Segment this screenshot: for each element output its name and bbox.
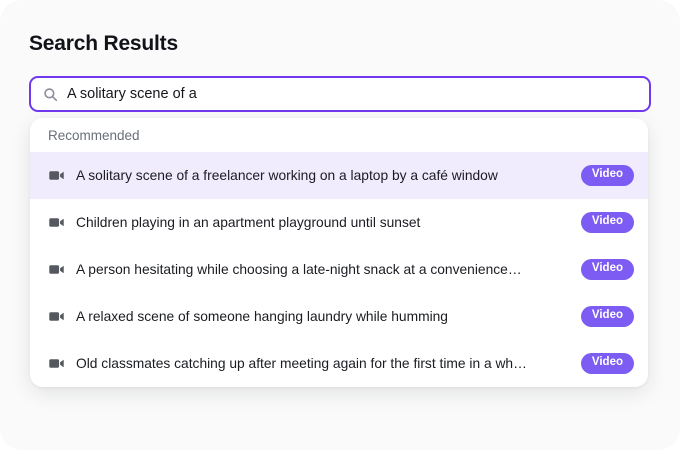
type-badge: Video [581,212,634,233]
suggestion-item[interactable]: A person hesitating while choosing a lat… [30,246,648,293]
video-camera-icon [48,355,65,372]
type-badge: Video [581,165,634,186]
suggestion-label: A relaxed scene of someone hanging laund… [76,309,581,324]
video-camera-icon [48,214,65,231]
suggestion-label: A person hesitating while choosing a lat… [76,262,581,277]
suggestions-group-label: Recommended [30,118,648,152]
suggestion-item[interactable]: A relaxed scene of someone hanging laund… [30,293,648,340]
suggestion-item[interactable]: Children playing in an apartment playgro… [30,199,648,246]
suggestion-label: A solitary scene of a freelancer working… [76,168,581,183]
video-camera-icon [48,261,65,278]
type-badge: Video [581,353,634,374]
suggestions-dropdown: Recommended A solitary scene of a freela… [30,118,648,387]
app-surface: Search Results A solitary scene of a Rec… [0,0,680,450]
video-camera-icon [48,308,65,325]
page-title: Search Results [29,32,178,56]
type-badge: Video [581,259,634,280]
search-input[interactable]: A solitary scene of a [29,76,651,112]
type-badge: Video [581,306,634,327]
suggestion-item[interactable]: A solitary scene of a freelancer working… [30,152,648,199]
search-icon [43,87,58,102]
suggestion-item[interactable]: Old classmates catching up after meeting… [30,340,648,387]
suggestion-label: Old classmates catching up after meeting… [76,356,581,371]
video-camera-icon [48,167,65,184]
suggestion-label: Children playing in an apartment playgro… [76,215,581,230]
search-input-value[interactable]: A solitary scene of a [67,87,197,102]
